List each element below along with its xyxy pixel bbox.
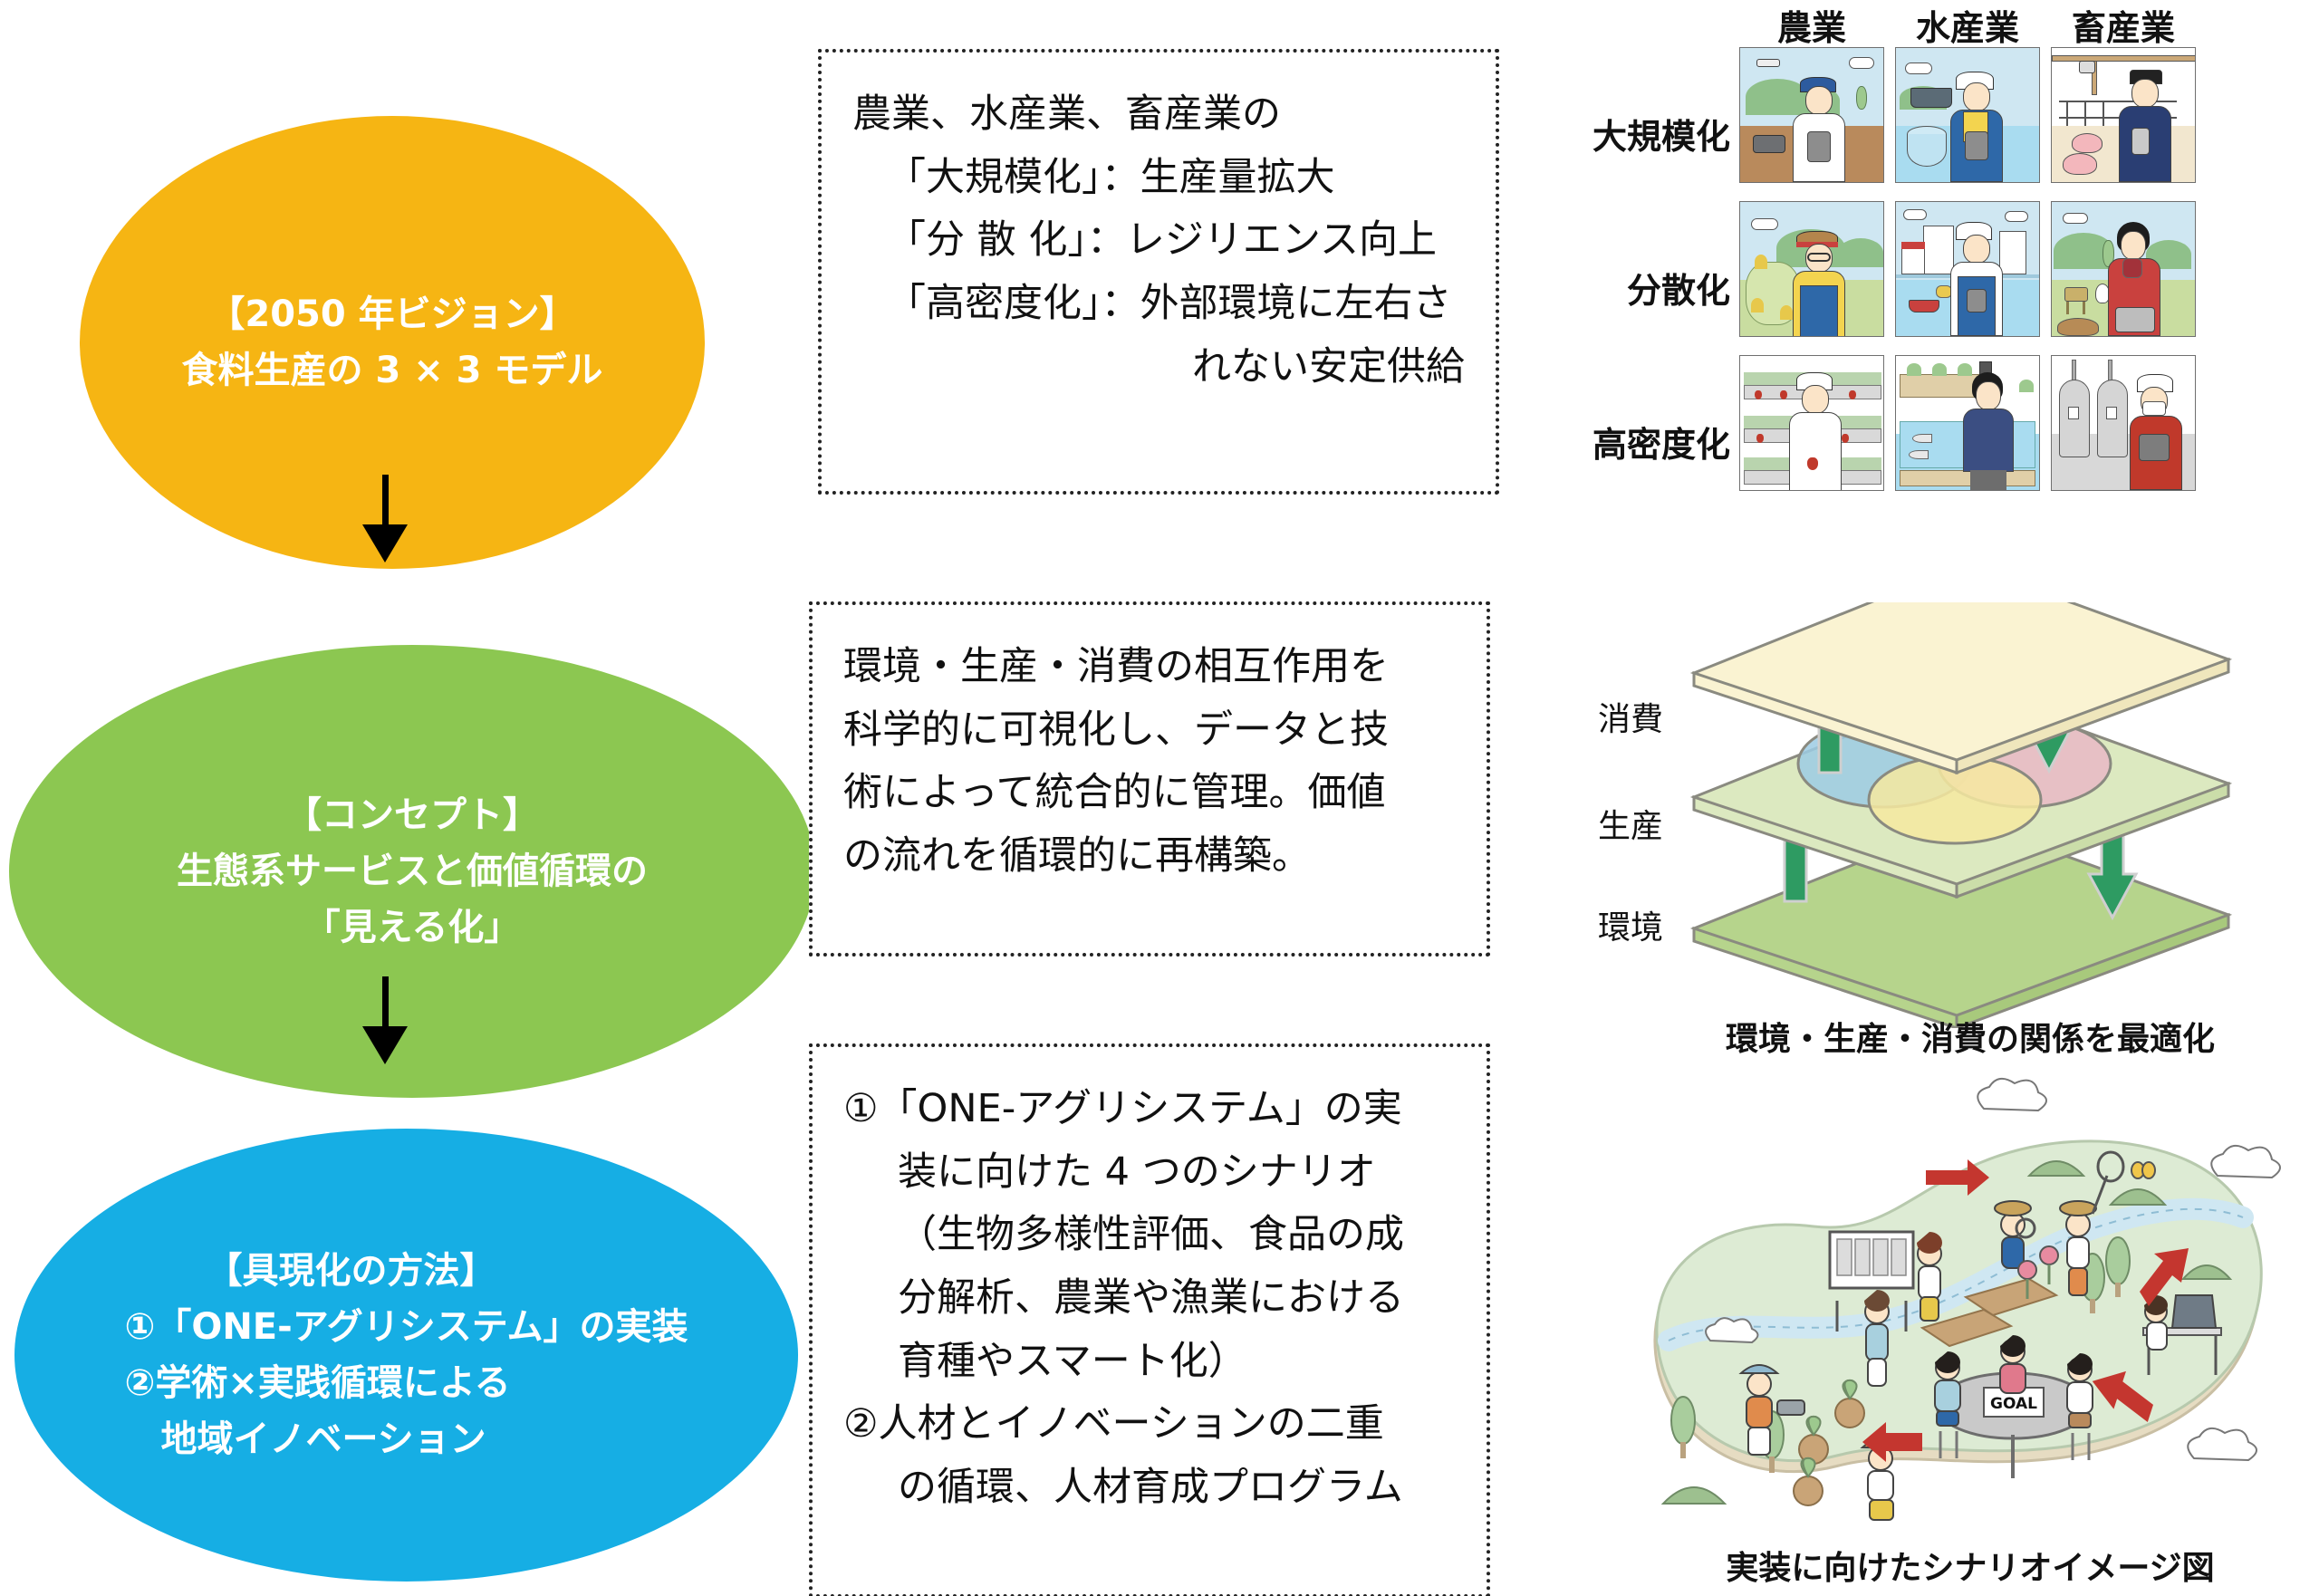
textbox-concept: 環境・生産・消費の相互作用を 科学的に可視化し、データと技 術によって統合的に管…	[809, 601, 1490, 957]
arrow-head	[362, 524, 408, 562]
textbox-vision-line-4: 「高密度化」：外部環境に左右さ	[852, 273, 1465, 336]
flow-node-method[interactable]: 【具現化の方法】 ①「ONE-アグリシステム」の実装 ②学術×実践循環による 地…	[14, 1129, 798, 1582]
textbox-vision-line-3: 「分 散 化」：レジリエンス向上	[852, 209, 1465, 273]
layer-label-consumption: 消費	[1598, 693, 1663, 740]
flow-node-method-line-1: 【具現化の方法】	[124, 1243, 496, 1299]
layer-label-production: 生産	[1598, 800, 1663, 847]
plane-consumption	[1694, 602, 2228, 773]
flow-node-concept-line-1: 【コンセプト】	[285, 787, 539, 843]
infographic-canvas: 【2050 年ビジョン】 食料生産の 3 × 3 モデル 【コンセプト】 生態系…	[0, 0, 2319, 1596]
textbox-concept-line-1: 環境・生産・消費の相互作用を	[843, 636, 1456, 699]
textbox-vision: 農業、水産業、畜産業の 「大規模化」：生産量拡大 「分 散 化」：レジリエンス向…	[818, 49, 1499, 495]
person-icon	[1864, 1290, 1890, 1386]
flow-node-vision-line-2: 食料生産の 3 × 3 モデル	[182, 342, 603, 399]
cloud-icon	[2211, 1146, 2280, 1178]
layered-planes-diagram: 消費 生産 環境	[1594, 602, 2319, 1055]
butterfly-icon	[2131, 1162, 2155, 1178]
caption-layers-diagram: 環境・生産・消費の関係を最適化	[1653, 1013, 2287, 1060]
layers-svg	[1594, 602, 2319, 1028]
matrix-column-header-livestock: 畜産業	[2051, 0, 2196, 50]
matrix-cell-scaleup-fishery[interactable]	[1895, 47, 2040, 183]
scenario-illustration: GOAL	[1603, 1069, 2319, 1531]
textbox-vision-line-2: 「大規模化」：生産量拡大	[852, 147, 1465, 210]
matrix-3x3: 農業 水産業 畜産業 大規模化 分散化 高密度化	[1522, 0, 2319, 543]
textbox-method-line-1: ①「ONE-アグリシステム」の実	[843, 1078, 1456, 1141]
arrow-shaft	[382, 976, 389, 1026]
layer-label-environment: 環境	[1598, 901, 1663, 948]
caption-scenario-diagram: 実装に向けたシナリオイメージ図	[1644, 1542, 2296, 1589]
matrix-column-header-agriculture: 農業	[1739, 0, 1884, 50]
cloud-icon	[1977, 1079, 2046, 1110]
watering-device-icon	[1777, 1400, 1804, 1415]
goal-label: GOAL	[1990, 1395, 2037, 1413]
flow-node-vision-line-1: 【2050 年ビジョン】	[208, 286, 575, 342]
arrow-down-icon	[358, 976, 412, 1064]
hill-icon	[1663, 1487, 1725, 1504]
person-icon	[2000, 1335, 2026, 1393]
matrix-cell-distributed-livestock[interactable]	[2051, 201, 2196, 337]
textbox-vision-line-1: 農業、水産業、畜産業の	[852, 83, 1465, 147]
textbox-method-line-4: 分解析、農業や漁業における	[843, 1267, 1456, 1331]
matrix-cell-scaleup-livestock[interactable]	[2051, 47, 2196, 183]
matrix-row-header-highdensity: 高密度化	[1522, 417, 1730, 466]
matrix-cell-scaleup-agriculture[interactable]	[1739, 47, 1884, 183]
textbox-method-line-5: 育種やスマート化）	[843, 1331, 1456, 1394]
textbox-method-line-3: （生物多様性評価、食品の成	[843, 1204, 1456, 1267]
flow-node-method-line-4: 地域イノベーション	[124, 1411, 486, 1467]
scenario-svg: GOAL	[1603, 1069, 2319, 1531]
textbox-method-line-2: 装に向けた 4 つのシナリオ	[843, 1141, 1456, 1205]
textbox-concept-line-3: 術によって統合的に管理。価値	[843, 762, 1456, 825]
person-icon	[1917, 1232, 1942, 1321]
textbox-vision-line-5: れない安定供給	[852, 336, 1465, 399]
flow-node-method-line-2: ①「ONE-アグリシステム」の実装	[124, 1299, 688, 1355]
textbox-method-line-6: ②人材とイノベーションの二重	[843, 1393, 1456, 1457]
matrix-cell-distributed-agriculture[interactable]	[1739, 201, 1884, 337]
matrix-cell-distributed-fishery[interactable]	[1895, 201, 2040, 337]
flow-node-concept-line-3: 「見える化」	[304, 899, 521, 956]
textbox-method-line-7: の循環、人材育成プログラム	[843, 1457, 1456, 1520]
textbox-method: ①「ONE-アグリシステム」の実 装に向けた 4 つのシナリオ （生物多様性評価…	[809, 1043, 1490, 1596]
arrow-shaft	[382, 475, 389, 524]
flow-node-concept[interactable]: 【コンセプト】 生態系サービスと価値循環の 「見える化」	[9, 645, 815, 1098]
arrow-head	[362, 1026, 408, 1064]
tree-icon	[1671, 1397, 1695, 1458]
flow-node-concept-line-2: 生態系サービスと価値循環の	[177, 843, 648, 899]
matrix-row-header-distributed: 分散化	[1522, 263, 1730, 312]
matrix-cell-highdensity-livestock[interactable]	[2051, 355, 2196, 491]
matrix-cell-highdensity-fishery[interactable]	[1895, 355, 2040, 491]
matrix-row-header-scaleup: 大規模化	[1522, 109, 1730, 159]
matrix-column-header-fishery: 水産業	[1895, 0, 2040, 50]
textbox-concept-line-2: 科学的に可視化し、データと技	[843, 699, 1456, 763]
textbox-concept-line-4: の流れを循環的に再構築。	[843, 825, 1456, 889]
cloud-icon	[2188, 1428, 2256, 1460]
flow-node-method-line-3: ②学術×実践循環による	[124, 1355, 510, 1411]
laptop-icon	[2172, 1295, 2216, 1328]
arrow-down-icon	[358, 475, 412, 562]
matrix-cell-highdensity-agriculture[interactable]	[1739, 355, 1884, 491]
